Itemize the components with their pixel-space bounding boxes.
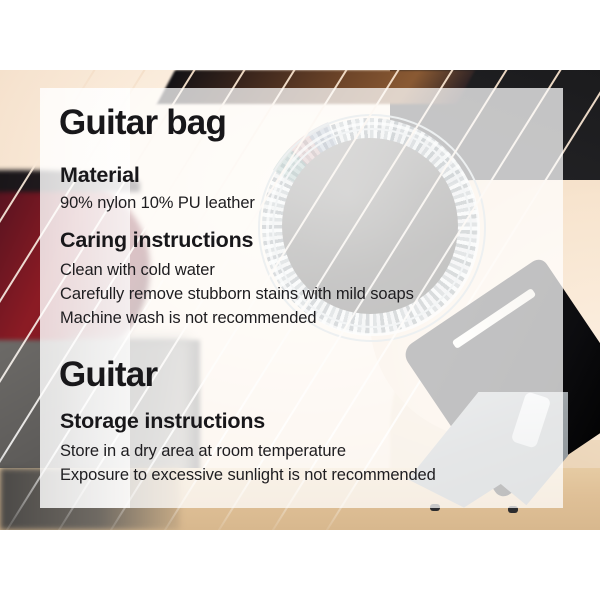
label-caring-instructions: Caring instructions xyxy=(60,228,253,253)
text-material-value: 90% nylon 10% PU leather xyxy=(60,194,255,213)
product-info-image: Guitar bag Material 90% nylon 10% PU lea… xyxy=(0,0,600,600)
section-title-guitar: Guitar xyxy=(59,355,157,395)
text-caring-line-2: Carefully remove stubborn stains with mi… xyxy=(60,285,414,304)
label-storage-instructions: Storage instructions xyxy=(60,409,265,434)
text-storage-line-2: Exposure to excessive sunlight is not re… xyxy=(60,466,436,485)
section-title-guitar-bag: Guitar bag xyxy=(59,103,226,143)
text-storage-line-1: Store in a dry area at room temperature xyxy=(60,442,346,461)
product-care-text: Guitar bag Material 90% nylon 10% PU lea… xyxy=(0,0,600,600)
label-material: Material xyxy=(60,163,140,188)
text-caring-line-3: Machine wash is not recommended xyxy=(60,309,316,328)
text-caring-line-1: Clean with cold water xyxy=(60,261,215,280)
